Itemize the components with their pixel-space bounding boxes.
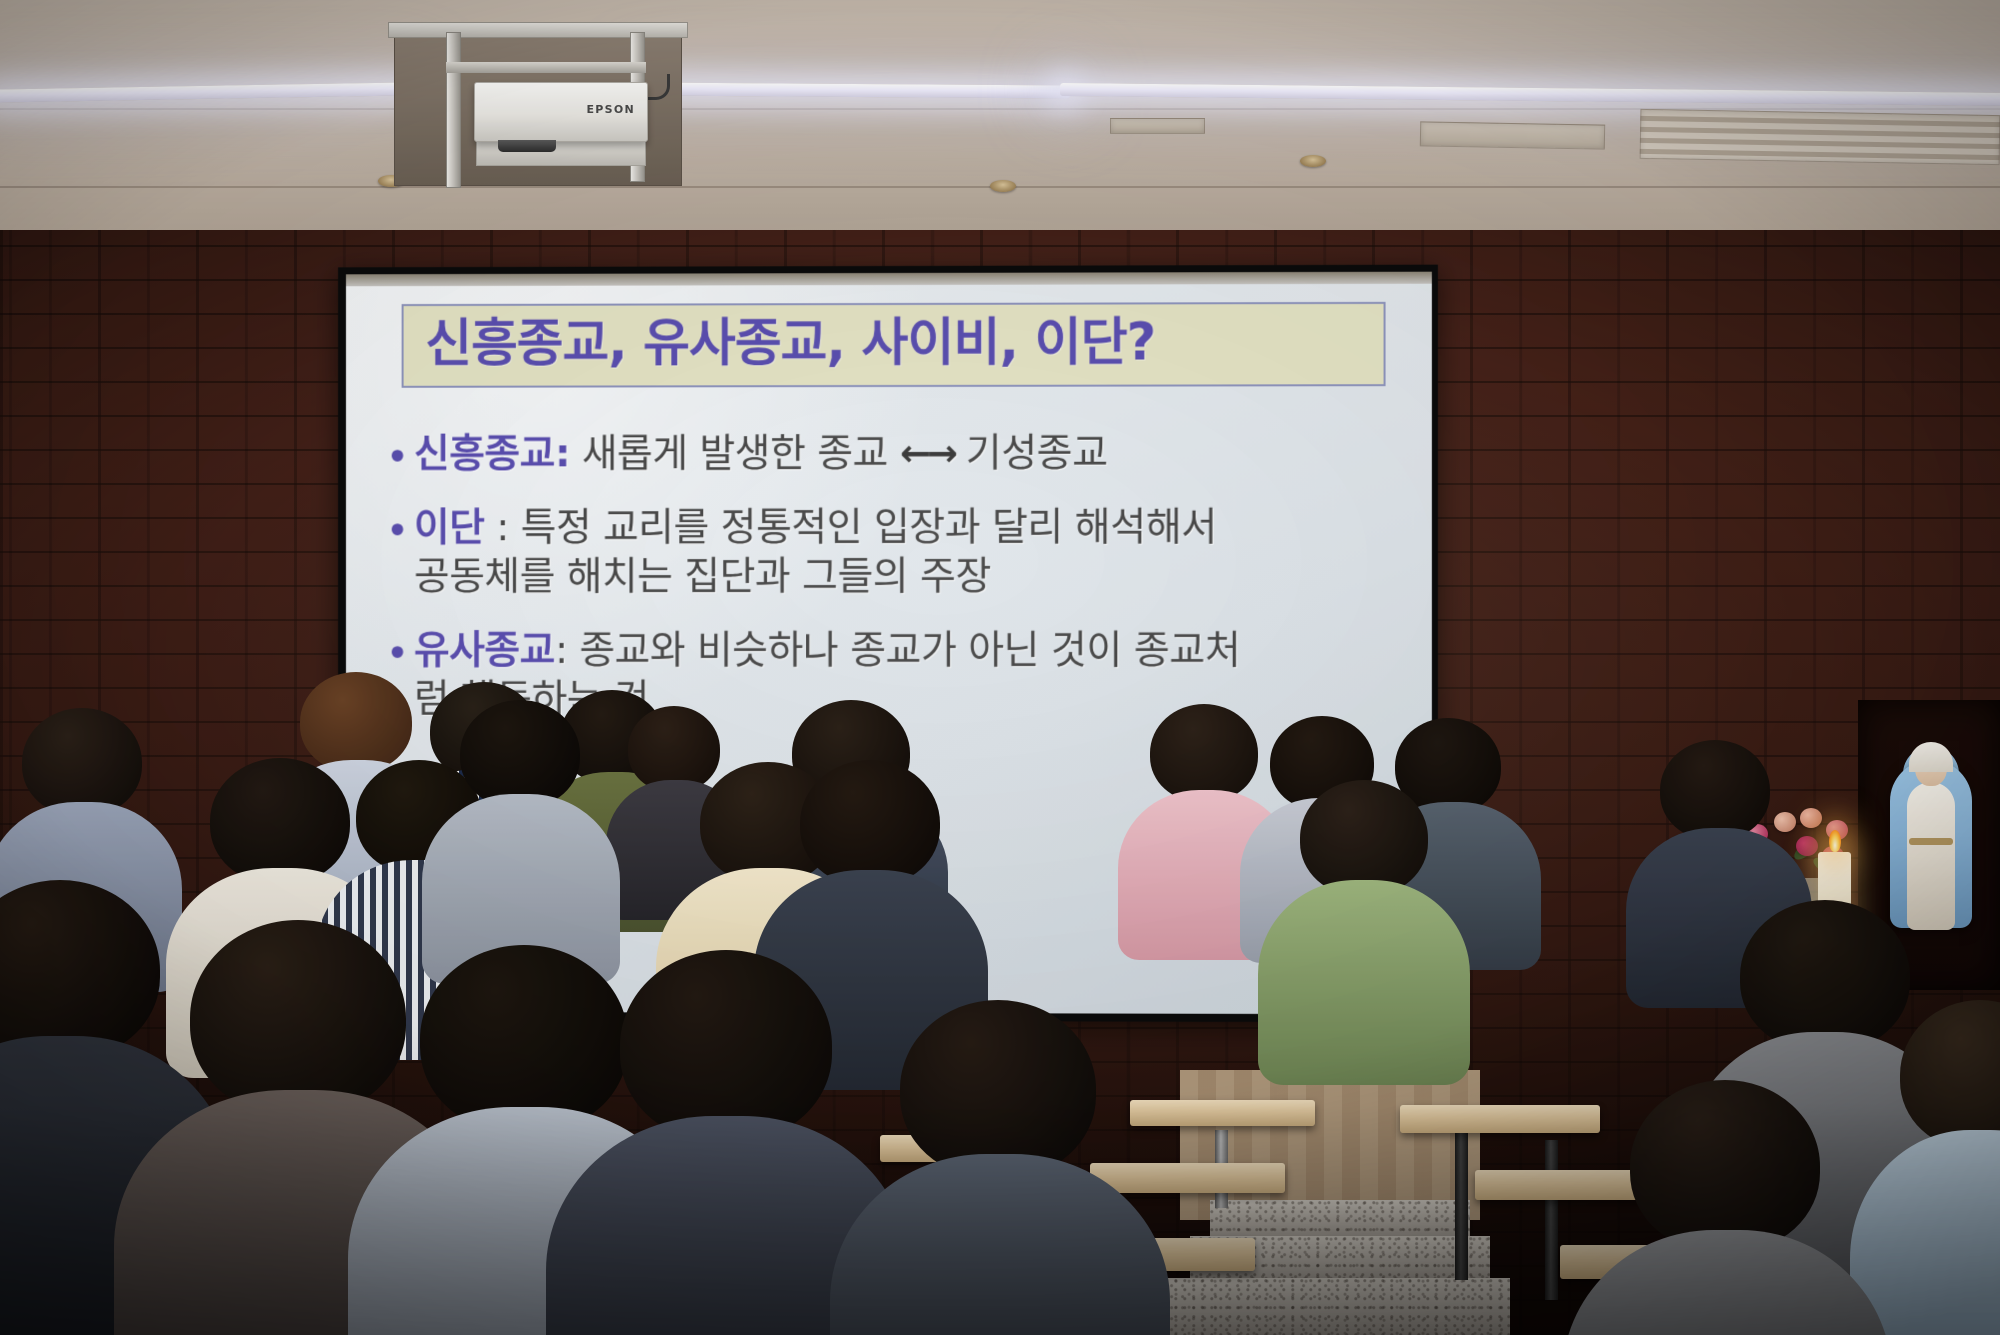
bullet-keyword: 이단 bbox=[414, 505, 484, 550]
candle-flame bbox=[1829, 830, 1841, 852]
slide-bullet: • 이단 : 특정 교리를 정통적인 입장과 달리 해석해서 공동체를 해치는 … bbox=[386, 502, 1410, 602]
bullet-line: 종교와 비슷하나 종교가 아닌 것이 종교처 bbox=[579, 628, 1240, 673]
air-vent-grille bbox=[1420, 121, 1605, 149]
terrazzo-step bbox=[1165, 1278, 1510, 1335]
slide-bullet: • 신흥종교: 새롭게 발생한 종교 ←→ 기성종교 bbox=[386, 428, 1410, 479]
bullet-dot-icon: • bbox=[386, 511, 409, 551]
bullet-line: 공동체를 해치는 집단과 그들의 주장 bbox=[414, 554, 991, 599]
wooden-lecture-desk bbox=[1130, 1100, 1315, 1126]
slide-title-box: 신흥종교, 유사종교, 사이비, 이단? bbox=[402, 302, 1386, 388]
bullet-line: 특정 교리를 정통적인 입장과 달리 해석해서 bbox=[521, 504, 1217, 550]
projector-lift-rail bbox=[446, 32, 461, 188]
ceiling-projector: EPSON bbox=[388, 22, 688, 190]
double-arrow-icon: ←→ bbox=[900, 432, 954, 475]
bullet-separator: : bbox=[555, 628, 568, 673]
virgin-mary-statue bbox=[1884, 742, 1978, 932]
bullet-body-before-arrow: 새롭게 발생한 종교 bbox=[582, 431, 888, 476]
sprinkler-head-icon bbox=[1300, 155, 1326, 167]
bullet-dot-icon: • bbox=[386, 438, 409, 478]
lecture-hall-photo: EPSON 신흥종교, 유사종교, 사이비, 이단? • 신흥종교: bbox=[0, 0, 2000, 1335]
bullet-body-after-arrow: 기성종교 bbox=[966, 431, 1108, 476]
projector-body: EPSON bbox=[474, 82, 648, 142]
wooden-lecture-desk bbox=[1090, 1163, 1285, 1193]
bullet-text: 이단 : 특정 교리를 정통적인 입장과 달리 해석해서 공동체를 해치는 집단… bbox=[414, 502, 1217, 601]
air-vent-grille bbox=[1110, 118, 1205, 134]
air-vent-grille bbox=[1640, 109, 2000, 165]
slide-title: 신흥종교, 유사종교, 사이비, 이단? bbox=[425, 316, 1365, 372]
bullet-dot-icon: • bbox=[386, 634, 409, 674]
terrazzo-step bbox=[1210, 1200, 1470, 1236]
bullet-text: 신흥종교: 새롭게 발생한 종교 ←→ 기성종교 bbox=[414, 429, 1108, 479]
projector-brand-label: EPSON bbox=[586, 103, 635, 116]
slide-bullet-list: • 신흥종교: 새롭게 발생한 종교 ←→ 기성종교 • 이단 : bbox=[386, 428, 1410, 725]
screen-top-bar bbox=[346, 272, 1432, 287]
bullet-keyword: 신흥종교 bbox=[414, 432, 555, 477]
projector-lens bbox=[498, 140, 556, 152]
bullet-separator: : bbox=[555, 431, 570, 476]
wooden-lecture-desk bbox=[1400, 1105, 1600, 1133]
sprinkler-head-icon bbox=[990, 180, 1016, 192]
bullet-separator: : bbox=[484, 505, 508, 550]
bullet-keyword: 유사종교 bbox=[414, 628, 555, 673]
projector-crossbar bbox=[446, 62, 646, 73]
